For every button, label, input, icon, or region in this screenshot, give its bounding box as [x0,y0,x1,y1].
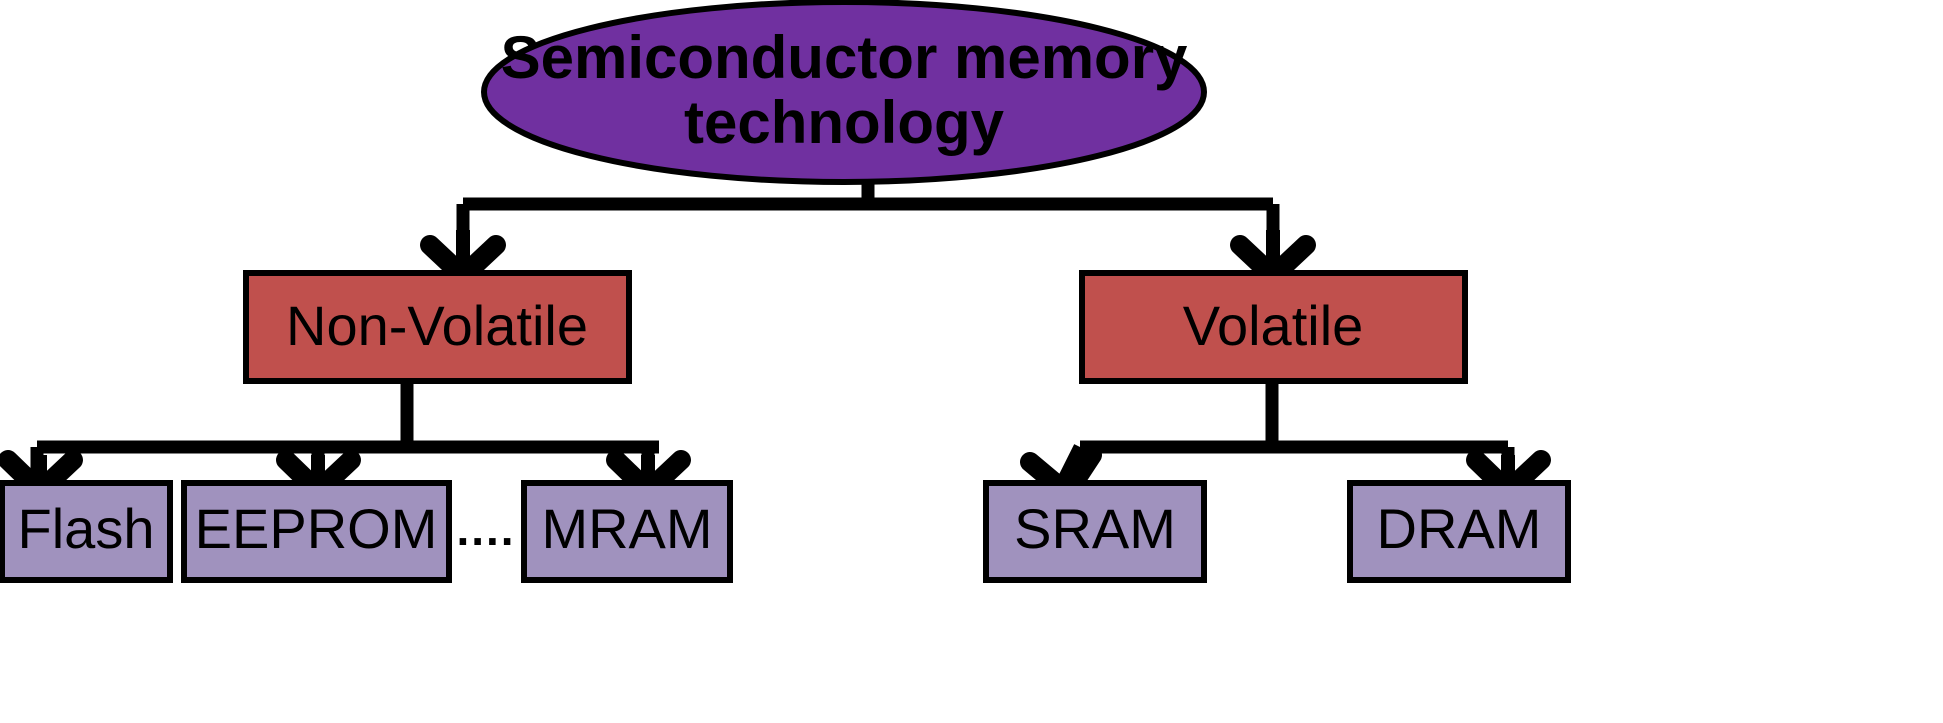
memory-technology-diagram: Semiconductor memory technology Non-Vola… [0,0,1943,723]
node-root[interactable]: Semiconductor memory technology [484,2,1204,182]
volatile-label: Volatile [1183,294,1364,357]
sram-label: SRAM [1014,497,1176,560]
dram-label: DRAM [1377,497,1542,560]
node-dram[interactable]: DRAM [1350,483,1568,580]
node-mram[interactable]: MRAM [524,483,730,580]
root-label-line2: technology [684,89,1005,156]
node-non-volatile[interactable]: Non-Volatile [246,273,629,381]
root-label-line1: Semiconductor memory [501,24,1188,91]
non-volatile-label: Non-Volatile [286,294,588,357]
eeprom-label: EEPROM [195,497,438,560]
node-flash[interactable]: Flash [2,483,170,580]
ellipsis-separator: .... [456,503,515,555]
node-eeprom[interactable]: EEPROM [184,483,449,580]
flash-label: Flash [18,497,155,560]
node-volatile[interactable]: Volatile [1082,273,1465,381]
mram-label: MRAM [541,497,712,560]
node-sram[interactable]: SRAM [986,483,1204,580]
